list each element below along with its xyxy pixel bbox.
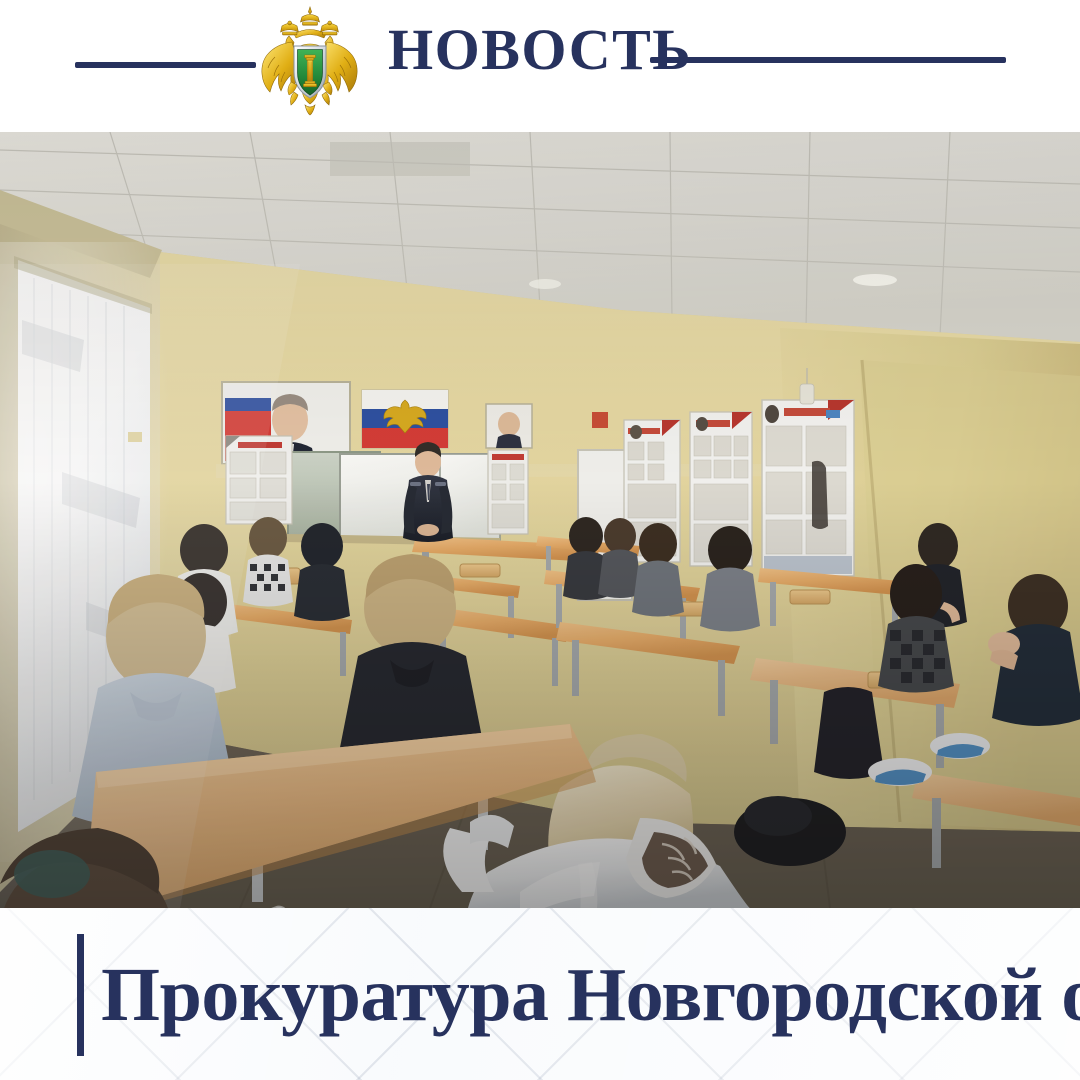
decorative-rule-right-icon	[650, 57, 1006, 63]
prosecutor-general-russia-emblem-icon	[258, 4, 362, 120]
news-poster: НОВОСТЬ	[0, 0, 1080, 1080]
news-label: НОВОСТЬ	[388, 18, 638, 82]
organization-name: Прокуратура Новгородской области	[101, 947, 1061, 1043]
classroom-photo	[0, 132, 1080, 908]
decorative-rule-left-icon	[75, 62, 256, 68]
navy-accent-bar	[77, 934, 84, 1056]
poster-header: НОВОСТЬ	[0, 0, 1080, 132]
